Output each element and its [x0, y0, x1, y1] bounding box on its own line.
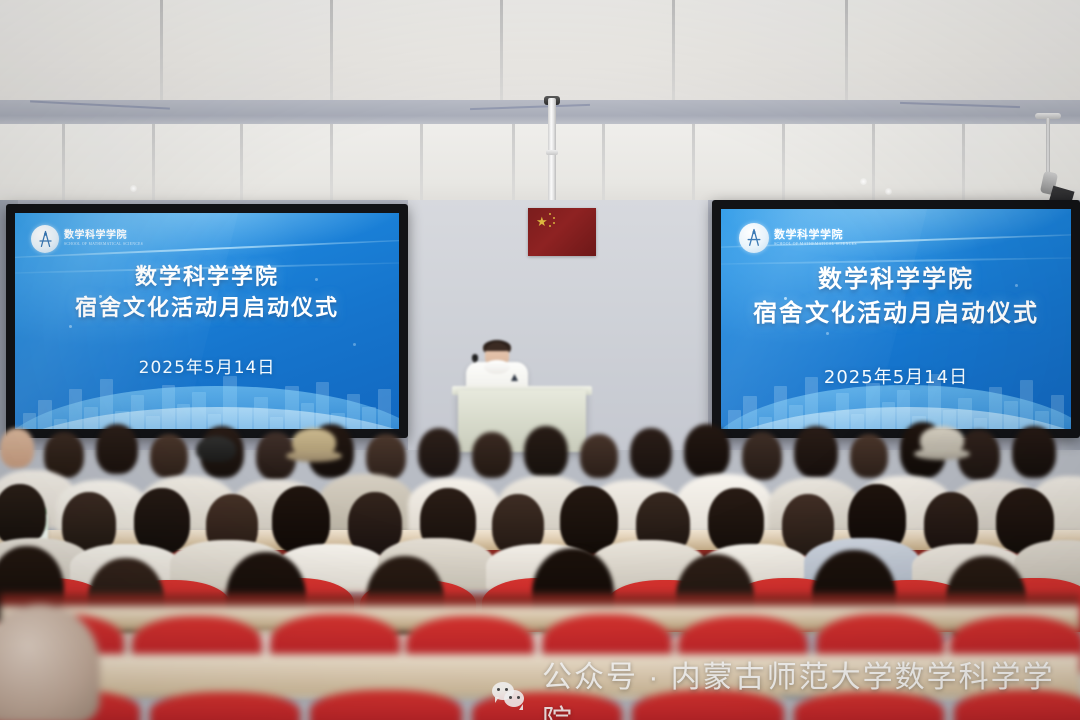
ceiling-soffit	[0, 100, 1080, 126]
led-screen-left[interactable]: 数学科学学院 SCHOOL OF MATHEMATICAL SCIENCES 数…	[6, 204, 408, 438]
screen-left-title-line1: 数学科学学院	[135, 264, 279, 289]
watermark-text: 公众号 · 内蒙古师范大学数学科学学院	[542, 652, 1080, 720]
hanging-speaker-rod	[1046, 118, 1050, 178]
screen-right-title-line2: 宿舍文化活动月启动仪式	[721, 297, 1071, 331]
led-screen-right[interactable]: 数学科学学院 SCHOOL OF MATHEMATICAL SCIENCES 数…	[712, 200, 1080, 438]
screen-right-logo: 数学科学学院 SCHOOL OF MATHEMATICAL SCIENCES	[739, 223, 857, 253]
screen-right-logo-cn: 数学科学学院	[774, 230, 857, 241]
flag-small-stars-icon	[549, 213, 559, 227]
screen-left-title-line2: 宿舍文化活动月启动仪式	[15, 292, 399, 323]
screen-left-logo: 数学科学学院 SCHOOL OF MATHEMATICAL SCIENCES	[31, 225, 143, 253]
screen-left-title: 数学科学学院 宿舍文化活动月启动仪式	[15, 261, 399, 323]
national-flag-plaque	[528, 208, 596, 256]
school-emblem-icon	[37, 230, 54, 249]
screen-right-title: 数学科学学院 宿舍文化活动月启动仪式	[721, 263, 1071, 331]
photo-scene: 数学科学学院 SCHOOL OF MATHEMATICAL SCIENCES 数…	[0, 0, 1080, 720]
screen-left-logo-cn: 数学科学学院	[64, 231, 143, 241]
screen-left-logo-en: SCHOOL OF MATHEMATICAL SCIENCES	[64, 243, 143, 247]
wechat-icon	[492, 681, 530, 711]
led-screen-right-surface: 数学科学学院 SCHOOL OF MATHEMATICAL SCIENCES 数…	[721, 209, 1071, 429]
watermark: 公众号 · 内蒙古师范大学数学科学学院	[492, 652, 1080, 720]
pole-joint	[546, 150, 558, 155]
speaker-collar	[484, 360, 510, 374]
dark-cap-icon	[196, 436, 236, 462]
screen-left-date: 2025年5月14日	[15, 353, 399, 378]
school-emblem-icon	[745, 228, 763, 248]
ceiling-lower-panels	[0, 124, 1080, 208]
screen-right-date: 2025年5月14日	[721, 363, 1071, 389]
screen-right-title-line1: 数学科学学院	[818, 266, 974, 293]
led-screen-left-surface: 数学科学学院 SCHOOL OF MATHEMATICAL SCIENCES 数…	[15, 213, 399, 429]
screen-right-logo-en: SCHOOL OF MATHEMATICAL SCIENCES	[774, 243, 857, 247]
ceiling-upper-panels	[0, 0, 1080, 106]
